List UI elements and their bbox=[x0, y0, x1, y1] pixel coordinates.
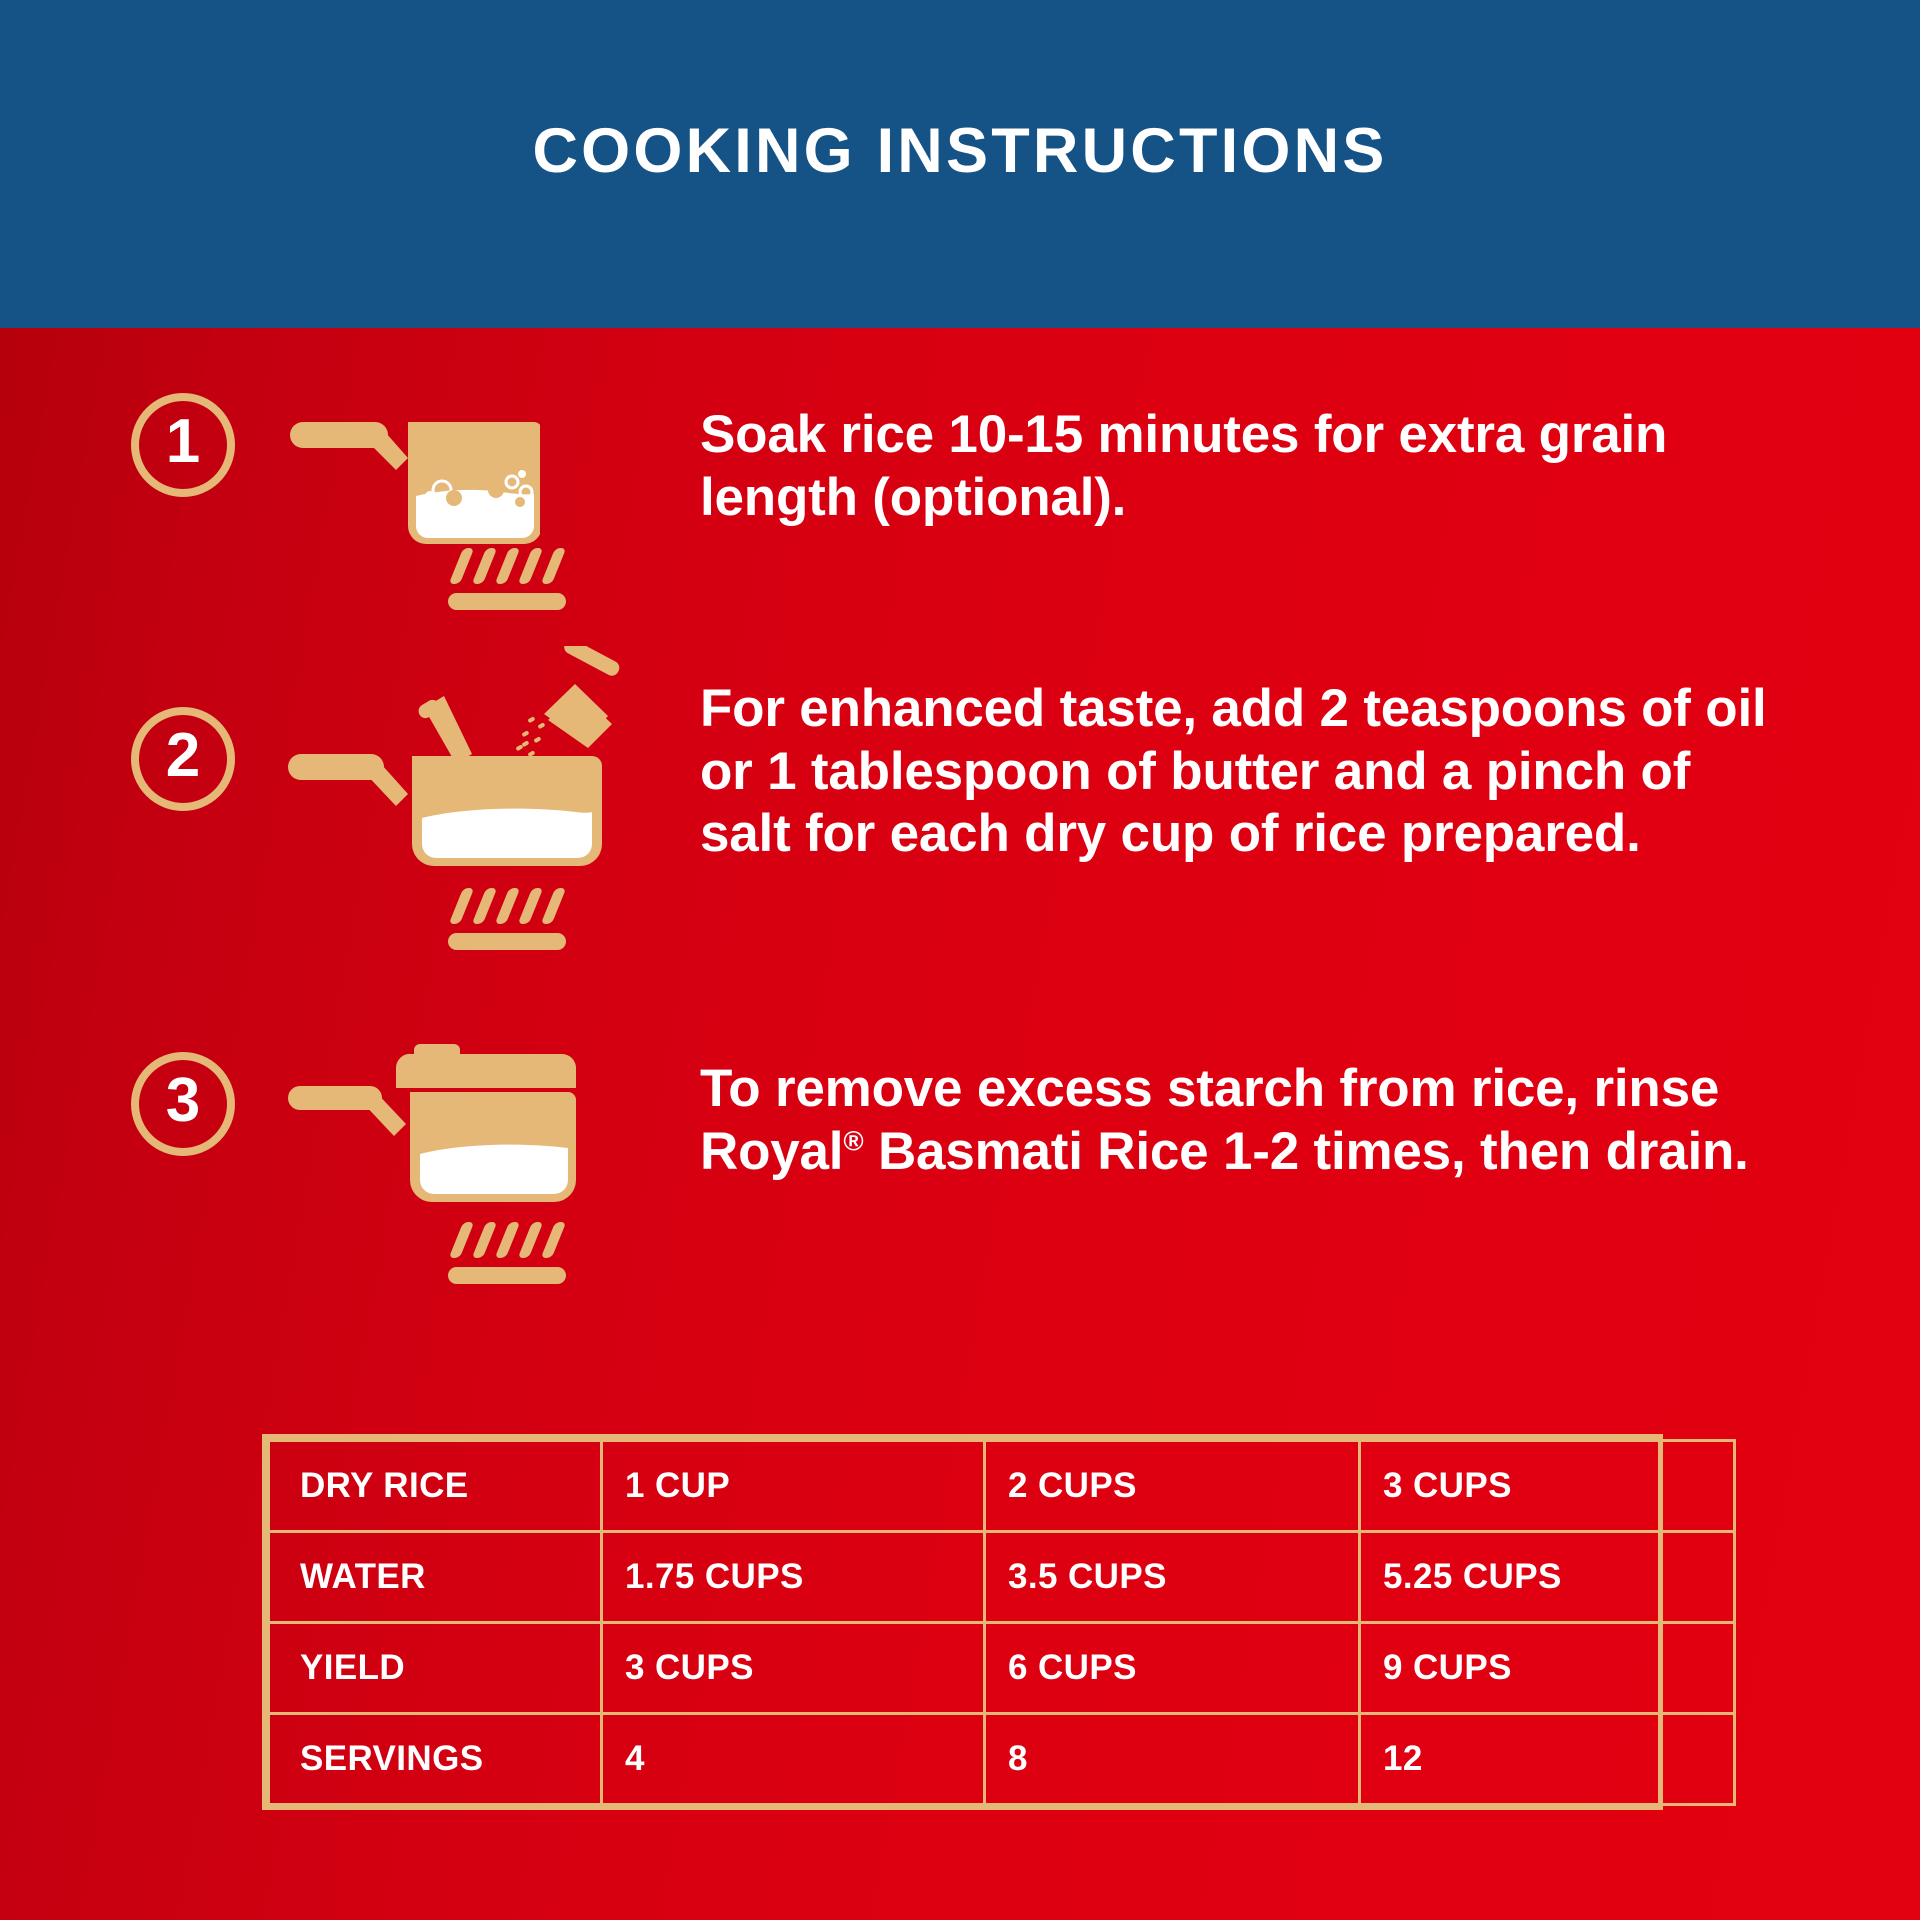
flame-tick bbox=[540, 548, 566, 584]
cell-servings-2: 8 bbox=[985, 1714, 1360, 1805]
flame-ticks-2 bbox=[448, 888, 566, 924]
flame-tick bbox=[471, 548, 497, 584]
flame-ticks-1 bbox=[448, 548, 566, 584]
burner-bar bbox=[448, 593, 566, 610]
cell-dry-rice-2: 2 CUPS bbox=[985, 1441, 1360, 1532]
ratio-table: DRY RICE 1 CUP 2 CUPS 3 CUPS WATER 1.75 … bbox=[267, 1439, 1736, 1806]
flame-tick bbox=[517, 888, 543, 924]
cooking-instructions-panel: COOKING INSTRUCTIONS 1 bbox=[0, 0, 1920, 1920]
header-banner: COOKING INSTRUCTIONS bbox=[0, 0, 1920, 328]
step-number-badge-3: 3 bbox=[131, 1052, 235, 1156]
flame-tick bbox=[448, 548, 474, 584]
burner-bar bbox=[448, 1267, 566, 1284]
ratio-table-body: DRY RICE 1 CUP 2 CUPS 3 CUPS WATER 1.75 … bbox=[269, 1441, 1735, 1805]
cell-yield-3: 9 CUPS bbox=[1360, 1623, 1735, 1714]
cell-dry-rice-3: 3 CUPS bbox=[1360, 1441, 1735, 1532]
flame-tick bbox=[471, 1222, 497, 1258]
flame-tick bbox=[540, 1222, 566, 1258]
table-row: YIELD 3 CUPS 6 CUPS 9 CUPS bbox=[269, 1623, 1735, 1714]
cooking-ratio-table: DRY RICE 1 CUP 2 CUPS 3 CUPS WATER 1.75 … bbox=[262, 1434, 1663, 1810]
step-text-3: To remove excess starch from rice, rinse… bbox=[700, 1058, 1780, 1183]
cell-yield-1: 3 CUPS bbox=[602, 1623, 985, 1714]
row-label-water: WATER bbox=[269, 1532, 602, 1623]
step-text-3-after: Basmati Rice 1-2 times, then drain. bbox=[863, 1122, 1748, 1181]
table-row: SERVINGS 4 8 12 bbox=[269, 1714, 1735, 1805]
cell-servings-3: 12 bbox=[1360, 1714, 1735, 1805]
cell-servings-1: 4 bbox=[602, 1714, 985, 1805]
burner-bar bbox=[448, 933, 566, 950]
row-label-dry-rice: DRY RICE bbox=[269, 1441, 602, 1532]
cell-water-1: 1.75 CUPS bbox=[602, 1532, 985, 1623]
flame-tick bbox=[448, 1222, 474, 1258]
cell-water-2: 3.5 CUPS bbox=[985, 1532, 1360, 1623]
table-row: DRY RICE 1 CUP 2 CUPS 3 CUPS bbox=[269, 1441, 1735, 1532]
row-label-yield: YIELD bbox=[269, 1623, 602, 1714]
step-number-3: 3 bbox=[166, 1070, 200, 1132]
flame-tick bbox=[494, 1222, 520, 1258]
table-row: WATER 1.75 CUPS 3.5 CUPS 5.25 CUPS bbox=[269, 1532, 1735, 1623]
pot-with-spoon-and-measuring-scoop-icon bbox=[286, 646, 626, 896]
flame-tick bbox=[471, 888, 497, 924]
flame-ticks-3 bbox=[448, 1222, 566, 1258]
step-text-2: For enhanced taste, add 2 teaspoons of o… bbox=[700, 678, 1795, 866]
measuring-scoop bbox=[544, 646, 622, 748]
step-number-badge-2: 2 bbox=[131, 707, 235, 811]
cell-yield-2: 6 CUPS bbox=[985, 1623, 1360, 1714]
step-text-1: Soak rice 10-15 minutes for extra grain … bbox=[700, 404, 1760, 529]
flame-tick bbox=[494, 888, 520, 924]
flame-tick bbox=[448, 888, 474, 924]
cell-water-3: 5.25 CUPS bbox=[1360, 1532, 1735, 1623]
flame-icon-1 bbox=[448, 548, 566, 610]
step-number-2: 2 bbox=[166, 725, 200, 787]
flame-tick bbox=[540, 888, 566, 924]
flame-tick bbox=[494, 548, 520, 584]
step-number-badge-1: 1 bbox=[131, 393, 235, 497]
flame-tick bbox=[517, 548, 543, 584]
registered-trademark-symbol: ® bbox=[843, 1125, 863, 1156]
pot-spoon-scoop-svg bbox=[286, 646, 626, 896]
row-label-servings: SERVINGS bbox=[269, 1714, 602, 1805]
flame-icon-2 bbox=[448, 888, 566, 950]
cell-dry-rice-1: 1 CUP bbox=[602, 1441, 985, 1532]
flame-icon-3 bbox=[448, 1222, 566, 1284]
page-title: COOKING INSTRUCTIONS bbox=[532, 120, 1387, 183]
step-number-1: 1 bbox=[166, 411, 200, 473]
flame-tick bbox=[517, 1222, 543, 1258]
